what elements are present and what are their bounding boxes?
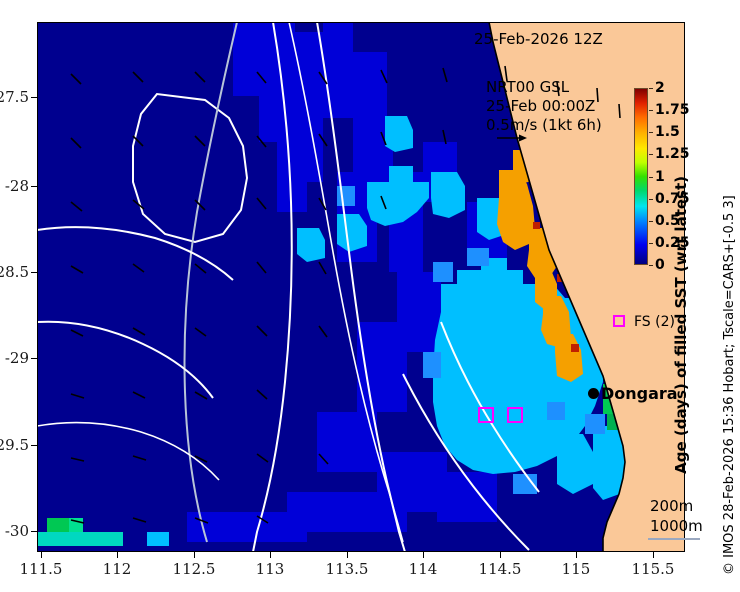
- colorbar-tick-label: 1.25: [655, 146, 690, 162]
- colorbar-tick: [649, 265, 653, 266]
- x-tick: [576, 552, 577, 558]
- colorbar-tick-label: 2: [655, 80, 665, 96]
- y-tick-label: -28: [5, 177, 29, 195]
- y-tick: [31, 445, 37, 446]
- depth-legend-rule: [648, 538, 700, 540]
- dongara-city-marker[interactable]: [588, 388, 599, 399]
- colorbar-tick-label: 1.5: [655, 124, 680, 140]
- x-tick: [653, 552, 654, 558]
- x-tick: [347, 552, 348, 558]
- y-tick: [31, 186, 37, 187]
- x-tick-label: 112: [103, 560, 132, 578]
- colorbar-tick: [649, 88, 653, 89]
- colorbar-tick-label: 0: [655, 257, 665, 273]
- x-tick-label: 114.5: [479, 560, 522, 578]
- colorbar-tick: [649, 177, 653, 178]
- x-tick: [500, 552, 501, 558]
- x-tick: [194, 552, 195, 558]
- depth-200m-label: 200m: [650, 497, 693, 515]
- x-tick-label: 114: [409, 560, 438, 578]
- x-tick-label: 112.5: [173, 560, 216, 578]
- figure-canvas: 111.5 112 112.5 113 113.5 114 114.5 115 …: [0, 0, 740, 592]
- colorbar-gradient: [634, 88, 648, 265]
- y-tick: [31, 272, 37, 273]
- copyright-credit: © IMOS 28-Feb-2026 15:36 Hobart; Tscale=…: [722, 195, 737, 575]
- y-tick: [31, 97, 37, 98]
- colorbar-tick-label: 1.75: [655, 102, 690, 118]
- colorbar-tick: [649, 154, 653, 155]
- y-tick-label: -29: [5, 349, 29, 367]
- depth-contour-legend: 200m1000m: [650, 496, 703, 536]
- x-tick: [117, 552, 118, 558]
- product-info-block: NRT00 GSL 25-Feb 00:00Z 0.5m/s (1kt 6h): [486, 78, 602, 135]
- x-tick-label: 111.5: [20, 560, 63, 578]
- fs-station-marker-2[interactable]: [507, 407, 523, 423]
- y-tick-label: -29.5: [0, 436, 29, 454]
- fs-station-marker-1[interactable]: [478, 407, 494, 423]
- dongara-label: Dongara: [601, 384, 678, 403]
- y-tick: [31, 358, 37, 359]
- colorbar-tick-label: 1: [655, 169, 665, 185]
- x-tick-label: 115.5: [632, 560, 675, 578]
- x-tick-label: 115: [562, 560, 591, 578]
- y-tick: [31, 531, 37, 532]
- x-tick: [270, 552, 271, 558]
- y-tick-label: -27.5: [0, 88, 29, 106]
- x-tick: [41, 552, 42, 558]
- y-tick-label: -28.5: [0, 263, 29, 281]
- x-tick-label: 113: [256, 560, 285, 578]
- x-tick: [423, 552, 424, 558]
- x-tick-label: 113.5: [326, 560, 369, 578]
- velocity-scale-arrow: [497, 133, 527, 143]
- colorbar-tick: [649, 243, 653, 244]
- y-tick-label: -30: [5, 522, 29, 540]
- depth-1000m-label: 1000m: [650, 517, 703, 535]
- colorbar-tick: [649, 199, 653, 200]
- date-stamp: 25-Feb-2026 12Z: [474, 30, 603, 48]
- colorbar-title: Age (days) of filled SST (wrt latest): [672, 176, 690, 474]
- colorbar-tick: [649, 110, 653, 111]
- fs-legend-label: FS (2): [634, 314, 675, 330]
- colorbar-tick: [649, 221, 653, 222]
- colorbar-tick: [649, 132, 653, 133]
- fs-legend-square-icon: [613, 315, 625, 327]
